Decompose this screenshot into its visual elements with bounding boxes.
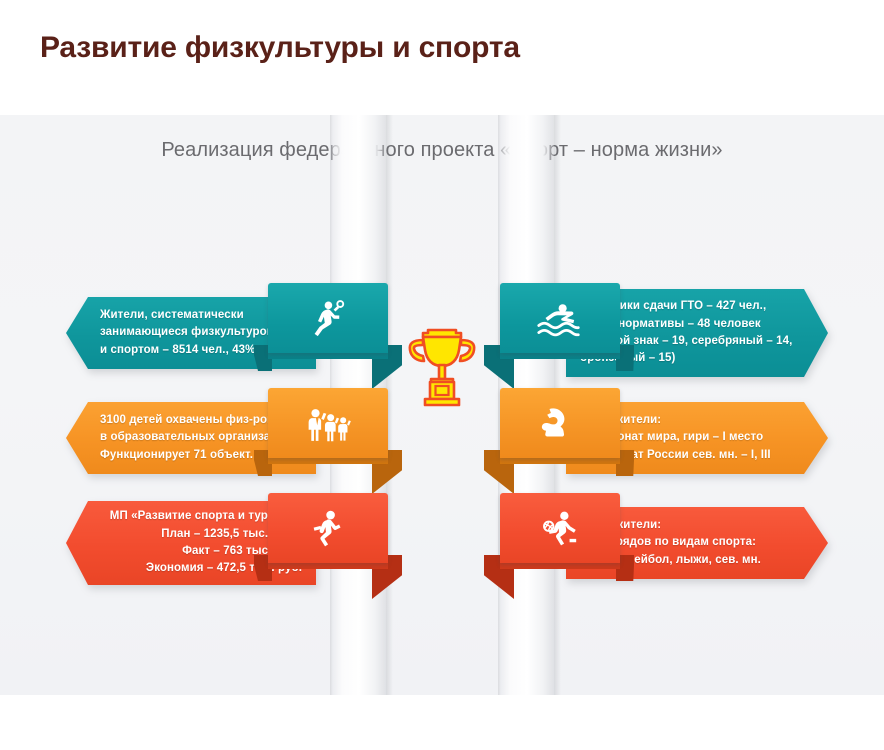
- icon-card-right-row-3[interactable]: [500, 493, 620, 579]
- swimmer-icon: [500, 283, 620, 353]
- group-of-children-icon: [268, 388, 388, 458]
- ribbon-row: МП «Развитие спорта и туризма» План – 12…: [0, 493, 884, 593]
- banner-text: Жители, систематически занимающиеся физк…: [100, 307, 274, 359]
- runner-icon: [268, 493, 388, 563]
- text-line: Жители, систематически: [100, 307, 274, 324]
- icon-card-right-row-2[interactable]: [500, 388, 620, 474]
- content-panel: Реализация федерального проекта «Спорт –…: [0, 115, 884, 695]
- flexed-bicep-icon: [500, 388, 620, 458]
- icon-card-left-row-2[interactable]: [268, 388, 388, 474]
- slide-header: Развитие физкультуры и спорта: [0, 0, 884, 115]
- ribbon-row: 3100 детей охвачены физ-рой в образовате…: [0, 388, 884, 488]
- volleyball-player-icon: [500, 493, 620, 563]
- icon-card-left-row-3[interactable]: [268, 493, 388, 579]
- ribbon-row: Жители, систематически занимающиеся физк…: [0, 283, 884, 383]
- text-line: и спортом – 8514 чел., 43%: [100, 342, 274, 359]
- icon-card-right-row-1[interactable]: [500, 283, 620, 369]
- icon-card-left-row-1[interactable]: [268, 283, 388, 369]
- slide-root: Развитие физкультуры и спорта Реализация…: [0, 0, 884, 750]
- page-title: Развитие физкультуры и спорта: [40, 31, 520, 65]
- tennis-player-icon: [268, 283, 388, 353]
- subtitle: Реализация федерального проекта «Спорт –…: [0, 139, 884, 162]
- text-line: занимающиеся физкультурой: [100, 324, 274, 341]
